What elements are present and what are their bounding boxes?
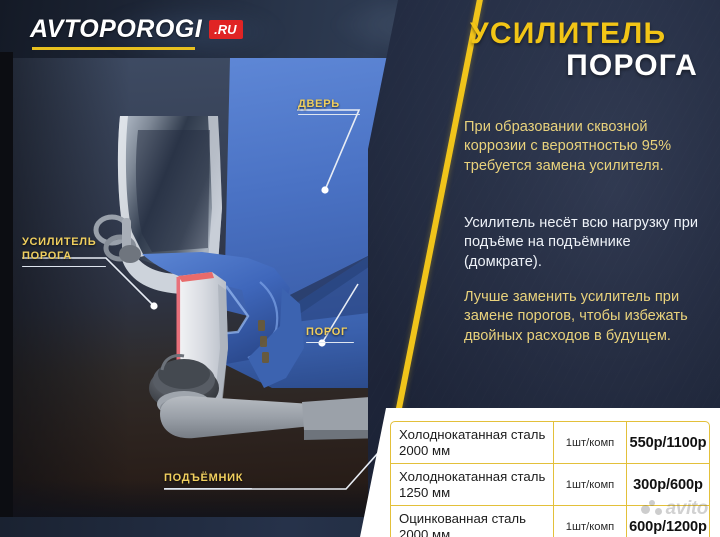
cell-quantity: 1шт/комп [554,422,627,463]
page-title-line1: УСИЛИТЕЛЬ [470,18,710,50]
callout-reinforcement-underline [22,266,106,268]
leader-door [297,110,359,190]
callout-door-underline [298,114,360,116]
price-table: Холоднокатанная сталь 2000 мм 1шт/комп 5… [390,421,710,537]
cell-price: 600р/1200р [627,506,709,537]
callout-sill-underline [306,342,354,344]
table-row: Оцинкованная сталь 2000 мм 1шт/комп 600р… [391,506,709,537]
cell-material: Холоднокатанная сталь 2000 мм [391,422,554,463]
callout-door-label: ДВЕРЬ [298,98,360,112]
brand-underline [32,47,195,50]
table-row: Холоднокатанная сталь 1250 мм 1шт/комп 3… [391,464,709,506]
cell-quantity: 1шт/комп [554,506,627,537]
cell-material: Оцинкованная сталь 2000 мм [391,506,554,537]
brand-name: AVTOPOROGI [30,17,202,42]
callout-sill-label: ПОРОГ [306,326,354,340]
cell-price: 300р/600р [627,464,709,505]
cell-quantity: 1шт/комп [554,464,627,505]
callout-lift: ПОДЪЁМНИК [164,472,252,489]
promo-banner: ДВЕРЬ УСИЛИТЕЛЬ ПОРОГА ПОРОГ ПОДЪЁМНИК У… [0,0,720,537]
cell-material: Холоднокатанная сталь 1250 мм [391,464,554,505]
brand-logo[interactable]: AVTOPOROGI .RU [30,17,243,42]
callout-lift-label: ПОДЪЁМНИК [164,472,252,486]
table-row: Холоднокатанная сталь 2000 мм 1шт/комп 5… [391,422,709,464]
brand-tld-badge: .RU [209,20,242,39]
callout-lift-underline [164,488,252,490]
callout-sill: ПОРОГ [306,326,354,343]
leader-endpoints [150,186,405,429]
callout-reinforcement: УСИЛИТЕЛЬ ПОРОГА [22,236,106,267]
callout-reinforcement-label: УСИЛИТЕЛЬ ПОРОГА [22,236,106,264]
callout-door: ДВЕРЬ [298,98,360,115]
cell-price: 550р/1100р [627,422,709,463]
